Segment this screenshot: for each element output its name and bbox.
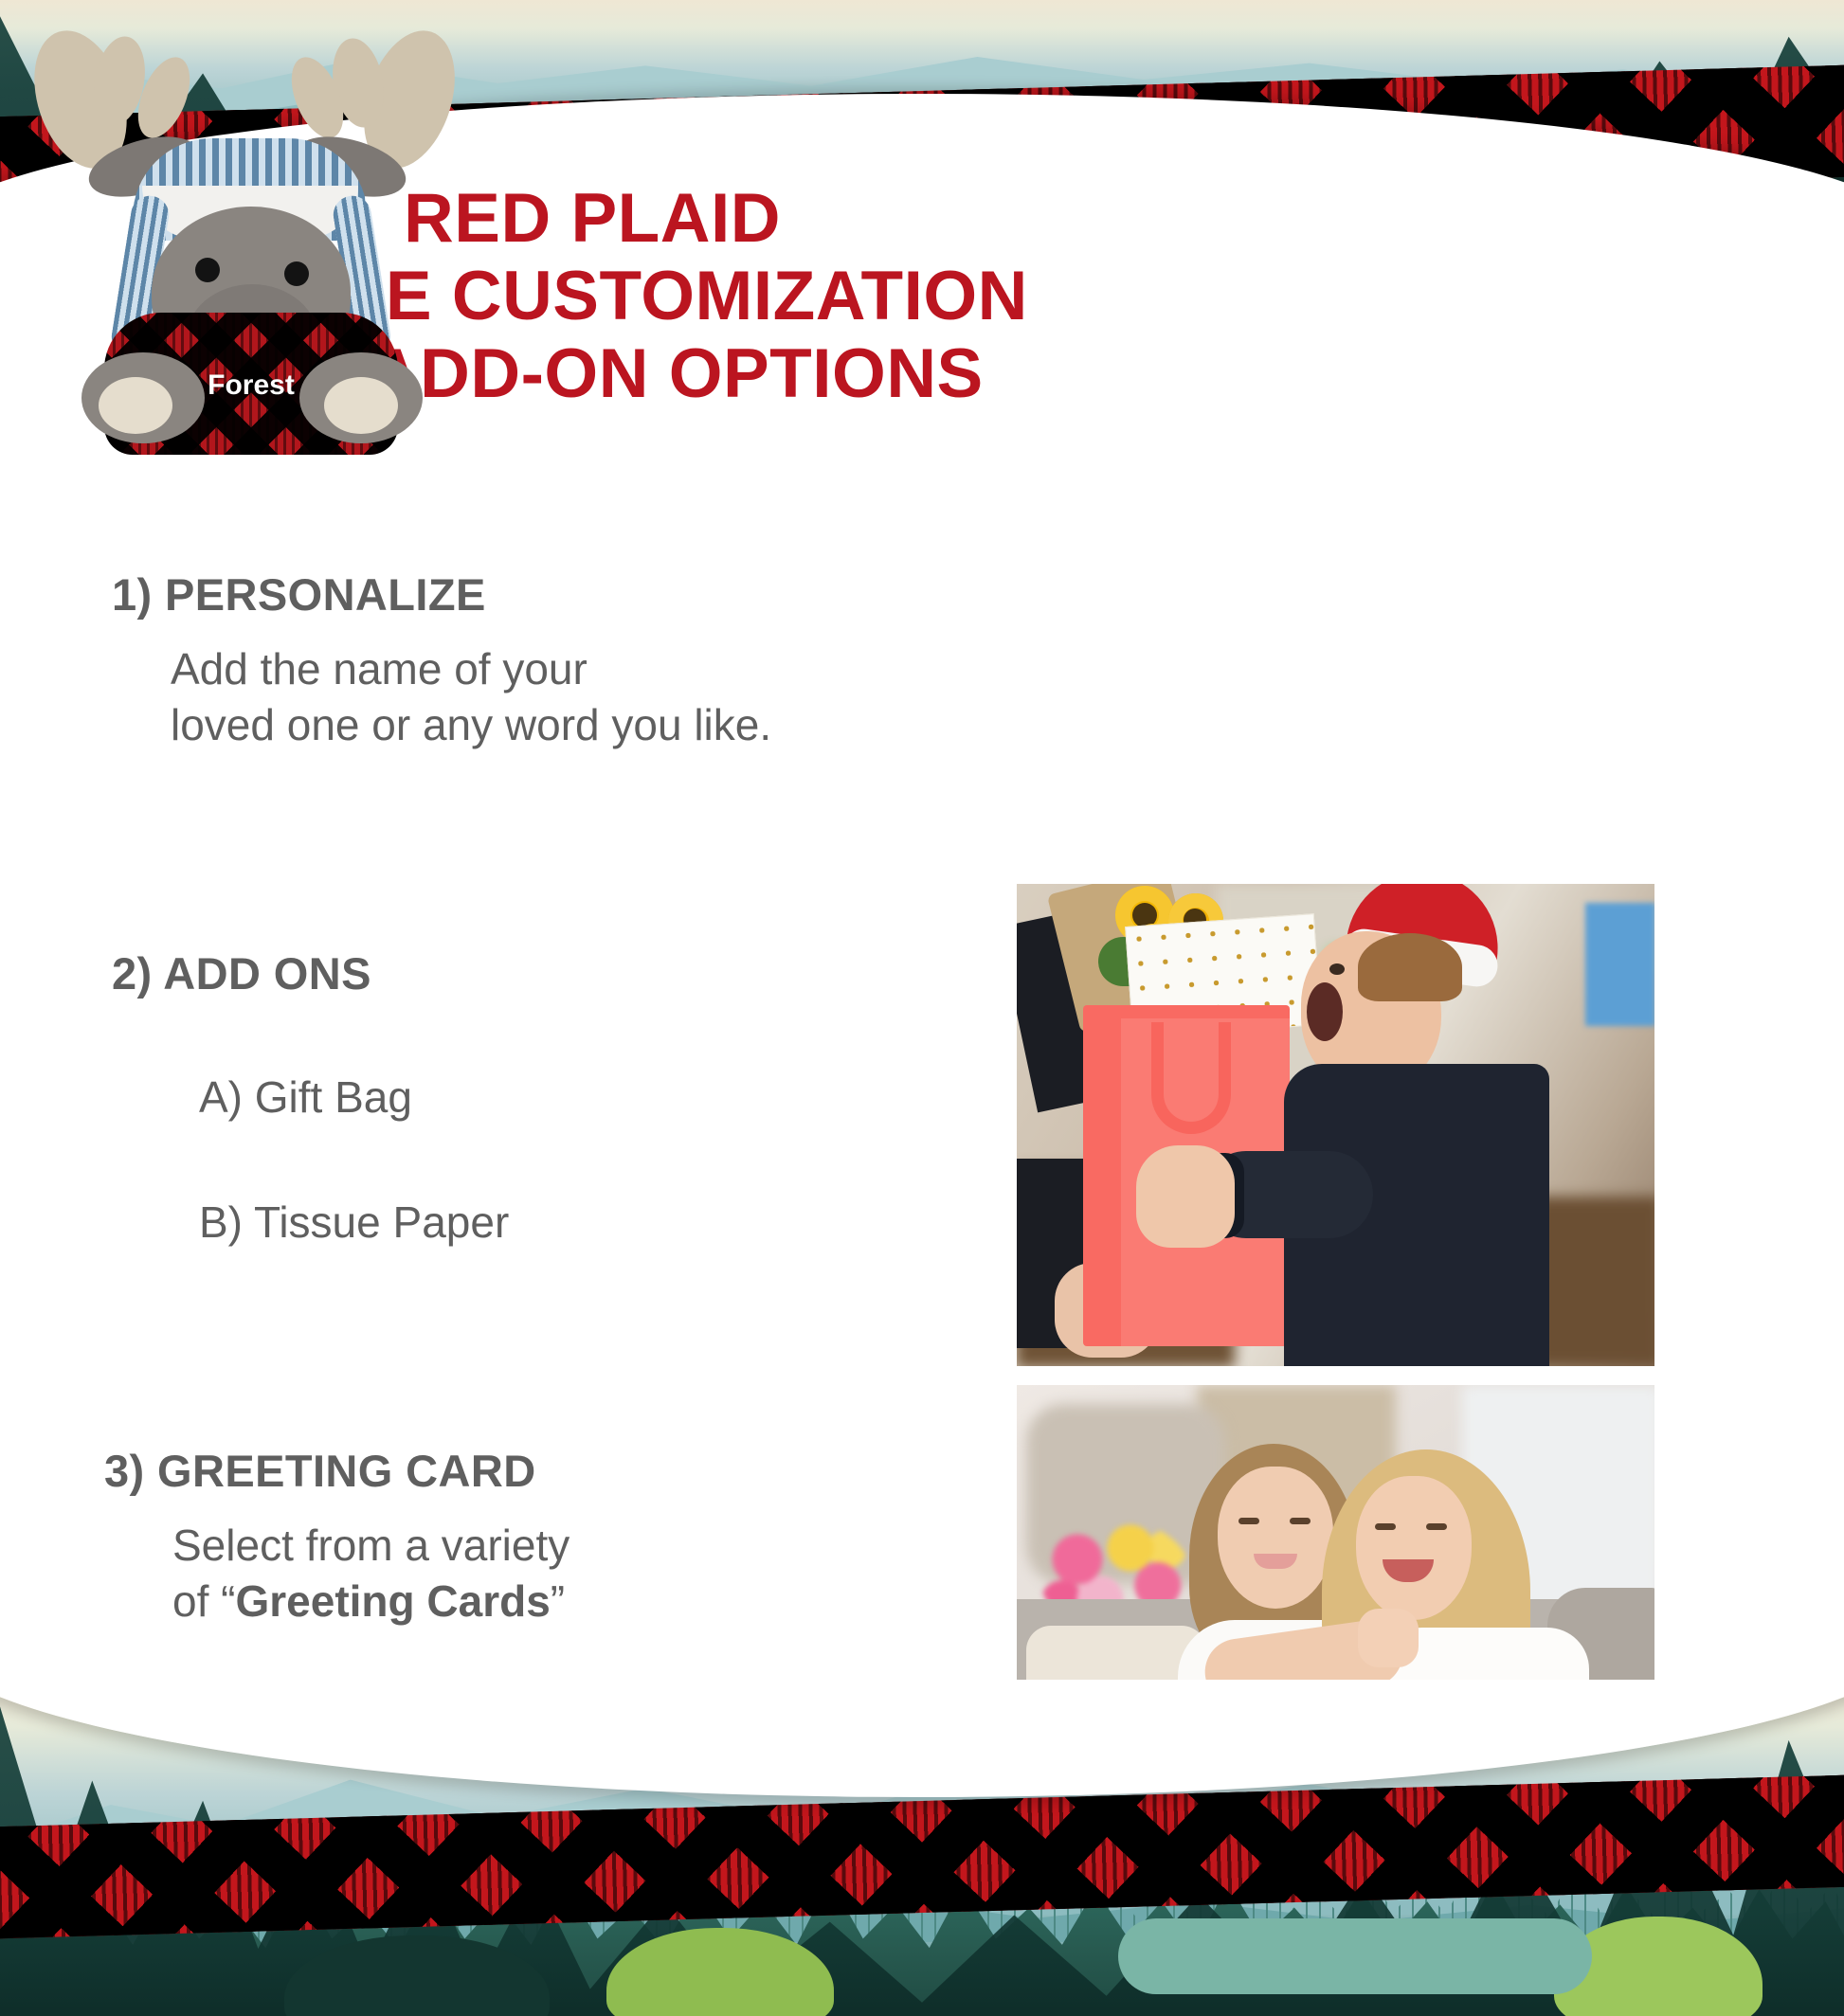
step-add-ons: 2) ADD ONS A) Gift Bag B) Tissue Paper xyxy=(112,947,509,1248)
bottom-lake xyxy=(1118,1918,1592,1994)
daughter-face xyxy=(1218,1467,1333,1609)
step-1-body-line-2: loved one or any word you like. xyxy=(171,697,771,753)
mother-face xyxy=(1356,1476,1472,1620)
greeting-card-quote-open: of “ xyxy=(172,1576,235,1626)
paw-left xyxy=(99,377,172,434)
step-1-body-line-1: Add the name of your xyxy=(171,641,771,697)
mother-eye-left xyxy=(1375,1523,1396,1530)
daughter-eye-left xyxy=(1238,1518,1259,1524)
greeting-card-quote-close: ” xyxy=(551,1576,565,1626)
bottom-decorative-band xyxy=(0,1680,1844,2016)
step-3-body: Select from a variety of “Greeting Cards… xyxy=(172,1518,569,1629)
step-1-heading: 1) PERSONALIZE xyxy=(112,568,771,621)
paw-right xyxy=(324,377,398,434)
step-2-heading: 2) ADD ONS xyxy=(112,947,509,999)
mother-eye-right xyxy=(1426,1523,1447,1530)
gift-bag-handle xyxy=(1151,1022,1231,1134)
boy-hair xyxy=(1358,933,1462,1001)
boy-eye xyxy=(1329,963,1345,975)
add-on-option-gift-bag[interactable]: A) Gift Bag xyxy=(199,1071,509,1123)
eye-right xyxy=(284,261,309,286)
add-on-option-tissue-paper[interactable]: B) Tissue Paper xyxy=(199,1197,509,1248)
step-3-body-line-2: of “Greeting Cards” xyxy=(172,1574,569,1629)
greeting-cards-emphasis: Greeting Cards xyxy=(235,1576,550,1626)
step-3-body-line-1: Select from a variety xyxy=(172,1518,569,1574)
step-greeting-card: 3) GREETING CARD Select from a variety o… xyxy=(104,1445,569,1629)
step-personalize: 1) PERSONALIZE Add the name of your love… xyxy=(112,568,771,753)
boy-hand xyxy=(1136,1145,1235,1248)
shelf-products xyxy=(1585,903,1654,1026)
eye-left xyxy=(195,258,220,282)
boy-open-mouth xyxy=(1307,982,1343,1041)
step-1-body: Add the name of your loved one or any wo… xyxy=(171,641,771,753)
step-3-heading: 3) GREETING CARD xyxy=(104,1445,569,1497)
mother-hand-on-shoulder xyxy=(1358,1609,1419,1667)
gift-bag-photo xyxy=(1017,884,1654,1366)
daughter-eye-right xyxy=(1290,1518,1311,1524)
